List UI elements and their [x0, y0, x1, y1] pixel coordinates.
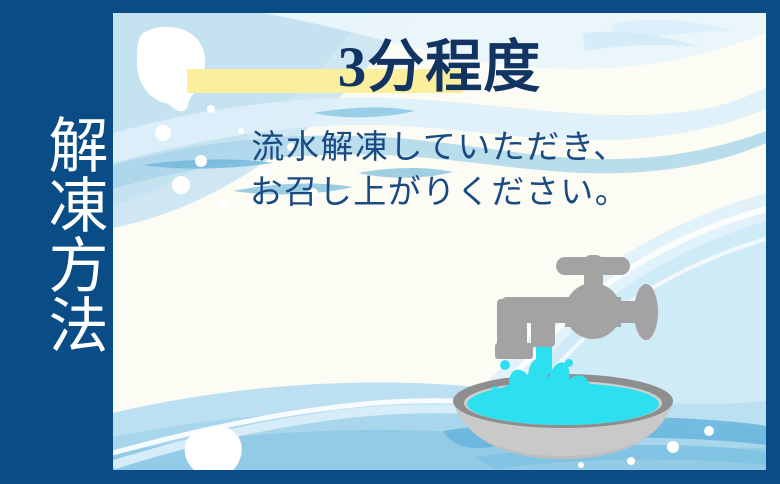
droplet-icon: [492, 386, 498, 392]
body-copy: 流水解凍していただき、 お召し上がりください。: [113, 126, 766, 216]
droplet-icon: [565, 359, 573, 367]
illustration-faucet-bowl: [443, 253, 683, 468]
droplet-icon: [515, 371, 521, 377]
headline-text: 3分程度: [338, 39, 542, 97]
splash-icon: [497, 359, 595, 413]
faucet-and-bowl-drawing: [443, 253, 683, 468]
section-title-vertical: 解凍方法: [18, 104, 104, 364]
droplet-icon: [500, 360, 510, 370]
body-line-2: お召し上がりください。: [113, 171, 766, 216]
faucet-icon: [495, 255, 658, 359]
body-line-1: 流水解凍していただき、: [113, 126, 766, 171]
headline-container: 3分程度: [113, 28, 766, 108]
infographic-card: 解凍方法: [0, 0, 780, 484]
